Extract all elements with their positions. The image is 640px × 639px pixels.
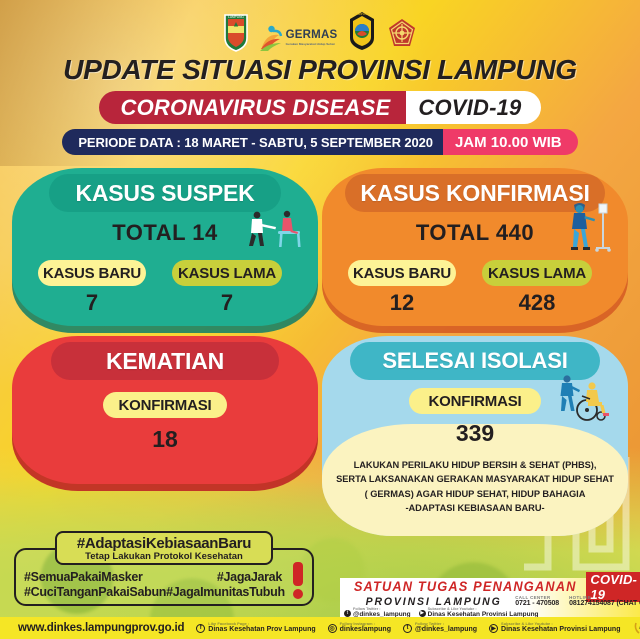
card-kematian-value: 18 (12, 426, 318, 453)
hotline-block: HOTLINE 081274154087 (CHAT ONLY) (569, 596, 640, 607)
footer-facebook-value: Dinas Kesehatan Prov Lampung (208, 626, 315, 633)
svg-text:LAMPUNG: LAMPUNG (355, 12, 371, 16)
patient-iv-drip-icon (566, 200, 614, 254)
footer-bar: www.dinkes.lampungprov.go.id f Like Face… (0, 617, 640, 639)
period-text: PERIODE DATA : 18 MARET - SABTU, 5 SEPTE… (78, 135, 433, 150)
patient-examination-icon (242, 208, 304, 250)
twitter-icon: t (344, 610, 351, 617)
satgas-title-row: SATUAN TUGAS PENANGANAN COVID-19 (340, 578, 640, 595)
twitter-icon: t (403, 624, 412, 633)
statistics-cards: KASUS SUSPEK TOTAL 14 KASUS BARU (0, 168, 640, 543)
phbs-line-4: -ADAPTASI KEBIASAAN BARU- (336, 501, 614, 515)
card-suspek-new-label: KASUS BARU (43, 265, 141, 282)
satgas-contact-row: PROVINSI LAMPUNG CALL CENTER 0721 - 4705… (340, 595, 640, 608)
covid-label-pill: COVID-19 (406, 91, 541, 124)
card-isolasi-konfirmasi-badge: KONFIRMASI (409, 388, 541, 414)
card-suspek-new-value: 7 (38, 290, 146, 316)
instagram-icon: ◎ (328, 624, 337, 633)
hashtag-box: #AdaptasiKebiasaanBaru Tetap Lakukan Pro… (14, 548, 314, 606)
card-selesai-isolasi: SELESAI ISOLASI (322, 336, 628, 536)
period-banner: PERIODE DATA : 18 MARET - SABTU, 5 SEPTE… (0, 129, 640, 155)
card-konfirmasi-old-value: 428 (482, 290, 592, 316)
time-text: JAM 10.00 WIB (455, 134, 562, 151)
card-kematian-title-pill: KEMATIAN (51, 342, 279, 380)
footer-twitter[interactable]: t Follow Twitter : @dinkes_lampung (403, 622, 477, 634)
hashtag-headline-tab: #AdaptasiKebiasaanBaru Tetap Lakukan Pro… (55, 531, 273, 565)
poster-header: LAMPUNG GERMAS Gerakan Masyarakat Hidup … (0, 0, 640, 155)
satgas-title: SATUAN TUGAS PENANGANAN (354, 579, 577, 594)
card-konfirmasi-old-badge: KASUS LAMA (482, 260, 592, 286)
card-kematian-title: KEMATIAN (106, 348, 224, 375)
youtube-icon: ▶ (419, 610, 426, 617)
hashtag-list: #SemuaPakaiMasker #JagaJarak #CuciTangan… (24, 570, 282, 599)
time-pill: JAM 10.00 WIB (443, 129, 578, 155)
germas-logo: GERMAS Gerakan Masyarakat Hidup Sehat (259, 24, 338, 52)
hashtag-row-1: #SemuaPakaiMasker #JagaJarak (24, 570, 282, 584)
page-title: UPDATE SITUASI PROVINSI LAMPUNG (0, 54, 640, 86)
card-isolasi-title: SELESAI ISOLASI (382, 348, 567, 374)
phbs-line-2: SERTA LAKSANAKAN GERAKAN MASYARAKAT HIDU… (336, 472, 614, 486)
card-kematian-konfirmasi-badge: KONFIRMASI (103, 392, 227, 418)
hashtag-row-2: #CuciTanganPakaiSabun #JagaImunitasTubuh (24, 585, 282, 599)
covid-label-text: COVID-19 (418, 95, 521, 121)
card-suspek-title-pill: KASUS SUSPEK (49, 174, 281, 212)
kampung-award-logo-icon: AWARD (632, 620, 640, 636)
footer-twitter-value: @dinkes_lampung (415, 626, 477, 633)
card-suspek-new-badge: KASUS BARU (38, 260, 146, 286)
phbs-message: LAKUKAN PERILAKU HIDUP BERSIH & SEHAT (P… (336, 458, 614, 516)
card-isolasi-konfirmasi-label: KONFIRMASI (429, 393, 522, 410)
hashtag-headline: #AdaptasiKebiasaanBaru (77, 535, 251, 552)
footer-instagram-value: dinkeslampung (340, 626, 391, 633)
footer-partner-logos: AWARD radio LAMPUNG (632, 620, 640, 636)
disease-label-pill: CORONAVIRUS DISEASE (99, 91, 407, 124)
germas-wordmark: GERMAS (286, 30, 338, 42)
wheelchair-patient-icon (554, 372, 610, 424)
card-konfirmasi-title: KASUS KONFIRMASI (360, 180, 589, 207)
covid-infographic-poster: LAMPUNG GERMAS Gerakan Masyarakat Hidup … (0, 0, 640, 639)
call-center-value: 0721 - 470508 (515, 600, 559, 607)
germas-tagline: Gerakan Masyarakat Hidup Sehat (286, 43, 338, 46)
satgas-banner: SATUAN TUGAS PENANGANAN COVID-19 PROVINS… (340, 578, 640, 618)
period-pill: PERIODE DATA : 18 MARET - SABTU, 5 SEPTE… (62, 129, 443, 155)
card-suspek-old-badge: KASUS LAMA (172, 260, 282, 286)
youtube-icon: ▶ (489, 624, 498, 633)
card-konfirmasi-new-badge: KASUS BARU (348, 260, 456, 286)
card-suspek-title: KASUS SUSPEK (75, 180, 254, 207)
card-konfirmasi-new-label: KASUS BARU (353, 265, 451, 282)
footer-youtube[interactable]: ▶ Subscribe & Like Youtube : Dinas Keseh… (489, 622, 620, 634)
phbs-line-3: ( GERMAS) AGAR HIDUP SEHAT, HIDUP BAHAGI… (336, 487, 614, 501)
hashtag-subhead: Tetap Lakukan Protokol Kesehatan (85, 551, 243, 562)
tni-logo-icon (387, 18, 417, 52)
facebook-icon: f (196, 624, 205, 633)
card-isolasi-value: 339 (322, 420, 628, 447)
footer-website-url[interactable]: www.dinkes.lampungprov.go.id (18, 622, 184, 634)
card-suspek-old-value: 7 (172, 290, 282, 316)
hashtag-cuci-tangan-pakai-sabun: #CuciTanganPakaiSabun (24, 585, 166, 599)
exclamation-mark-icon (292, 562, 304, 599)
hashtag-jaga-jarak: #JagaJarak (217, 570, 282, 584)
card-konfirmasi-old-label: KASUS LAMA (488, 265, 586, 282)
card-kasus-konfirmasi: KASUS KONFIRMASI TOTAL 440 (322, 168, 628, 326)
hashtag-semua-pakai-masker: #SemuaPakaiMasker (24, 570, 143, 584)
hotline-value: 081274154087 (CHAT ONLY) (569, 600, 640, 607)
hashtag-jaga-imunitas-tubuh: #JagaImunitasTubuh (166, 585, 285, 599)
lampung-province-emblem-icon: LAMPUNG (223, 12, 249, 52)
footer-facebook[interactable]: f Like Facebook Page : Dinas Kesehatan P… (196, 622, 315, 634)
phbs-line-1: LAKUKAN PERILAKU HIDUP BERSIH & SEHAT (P… (336, 458, 614, 472)
card-suspek-old-label: KASUS LAMA (178, 265, 276, 282)
disease-banner: CORONAVIRUS DISEASE COVID-19 (0, 91, 640, 124)
polda-lampung-logo-icon: LAMPUNG (347, 10, 377, 52)
card-konfirmasi-new-value: 12 (348, 290, 456, 316)
germas-figure-icon (259, 24, 283, 52)
card-kematian: KEMATIAN KONFIRMASI 18 (12, 336, 318, 484)
disease-label-text: CORONAVIRUS DISEASE (121, 95, 391, 121)
card-kasus-suspek: KASUS SUSPEK TOTAL 14 KASUS BARU (12, 168, 318, 326)
footer-youtube-value: Dinas Kesehatan Provinsi Lampung (501, 626, 620, 633)
logo-row: LAMPUNG GERMAS Gerakan Masyarakat Hidup … (0, 0, 640, 52)
footer-instagram[interactable]: ◎ Follow Instagram : dinkeslampung (328, 622, 391, 634)
call-center-block: CALL CENTER 0721 - 470508 (515, 596, 559, 607)
svg-text:LAMPUNG: LAMPUNG (228, 15, 244, 19)
card-kematian-konfirmasi-label: KONFIRMASI (119, 397, 212, 414)
satgas-province: PROVINSI LAMPUNG (366, 596, 502, 608)
